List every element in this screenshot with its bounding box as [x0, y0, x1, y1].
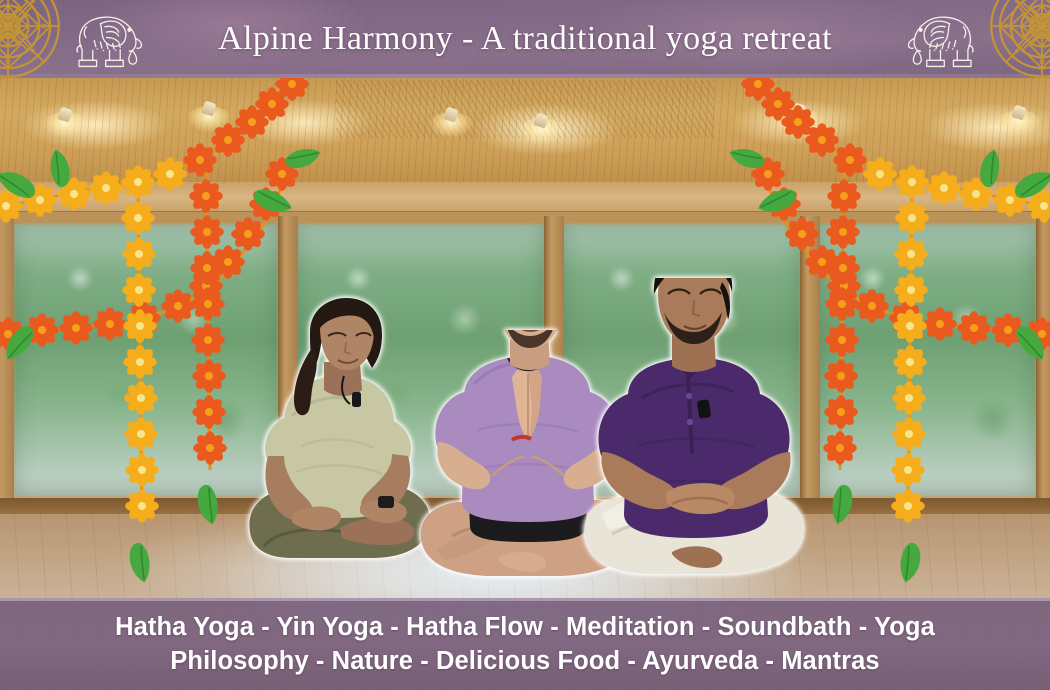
- offerings-footer: Hatha Yoga - Yin Yoga - Hatha Flow - Med…: [0, 598, 1050, 690]
- header-banner: Alpine Harmony - A traditional yoga retr…: [0, 0, 1050, 78]
- page-title: Alpine Harmony - A traditional yoga retr…: [0, 0, 1050, 78]
- offerings-line-2: Philosophy - Nature - Delicious Food - A…: [170, 644, 879, 678]
- retreat-poster: Alpine Harmony - A traditional yoga retr…: [0, 0, 1050, 690]
- track-light-icon: [438, 108, 464, 128]
- track-light-icon: [528, 114, 554, 134]
- track-light-icon: [52, 108, 78, 128]
- window-mullion: [0, 216, 14, 504]
- track-light-icon: [196, 102, 222, 122]
- offerings-line-1: Hatha Yoga - Yin Yoga - Hatha Flow - Med…: [115, 610, 935, 644]
- window-mullion: [1036, 216, 1050, 504]
- track-light-icon: [1006, 106, 1032, 126]
- track-light-icon: [786, 104, 812, 124]
- upper-wall: [0, 182, 1050, 216]
- man-meditating-right: [572, 278, 822, 608]
- window-pane: [818, 224, 1036, 496]
